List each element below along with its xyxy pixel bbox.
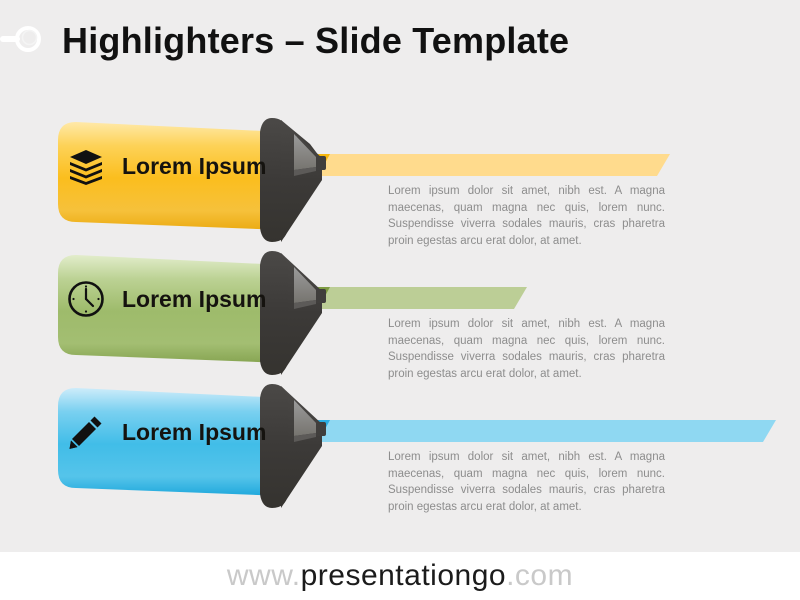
- highlighter-row: Lorem Ipsum Lorem ipsum dolor sit amet, …: [0, 376, 800, 516]
- clock-icon: [66, 279, 106, 319]
- books-stack-icon: [66, 146, 106, 186]
- row-body-text: Lorem ipsum dolor sit amet, nibh est. A …: [388, 183, 665, 249]
- row-body-text: Lorem ipsum dolor sit amet, nibh est. A …: [388, 449, 665, 515]
- pencil-icon: [66, 412, 106, 452]
- slide-footer: www.presentationgo.com: [0, 552, 800, 600]
- slide-canvas: Highlighters – Slide Template: [0, 0, 800, 600]
- page-title: Highlighters – Slide Template: [62, 14, 762, 68]
- highlighter-row: Lorem Ipsum Lorem ipsum dolor sit amet, …: [0, 243, 800, 383]
- url-brand: presentationgo: [301, 559, 507, 592]
- ring-pin-icon: [0, 22, 46, 56]
- marker-label: Lorem Ipsum: [122, 148, 292, 184]
- marker-label: Lorem Ipsum: [122, 414, 292, 450]
- row-body-text: Lorem ipsum dolor sit amet, nibh est. A …: [388, 316, 665, 382]
- marker-label: Lorem Ipsum: [122, 281, 292, 317]
- slide-header: Highlighters – Slide Template: [0, 0, 800, 78]
- url-prefix: www.: [227, 559, 301, 592]
- highlighter-row: Lorem Ipsum Lorem ipsum dolor sit amet, …: [0, 110, 800, 250]
- url-suffix: .com: [506, 559, 573, 592]
- footer-website-url[interactable]: www.presentationgo.com: [0, 552, 800, 600]
